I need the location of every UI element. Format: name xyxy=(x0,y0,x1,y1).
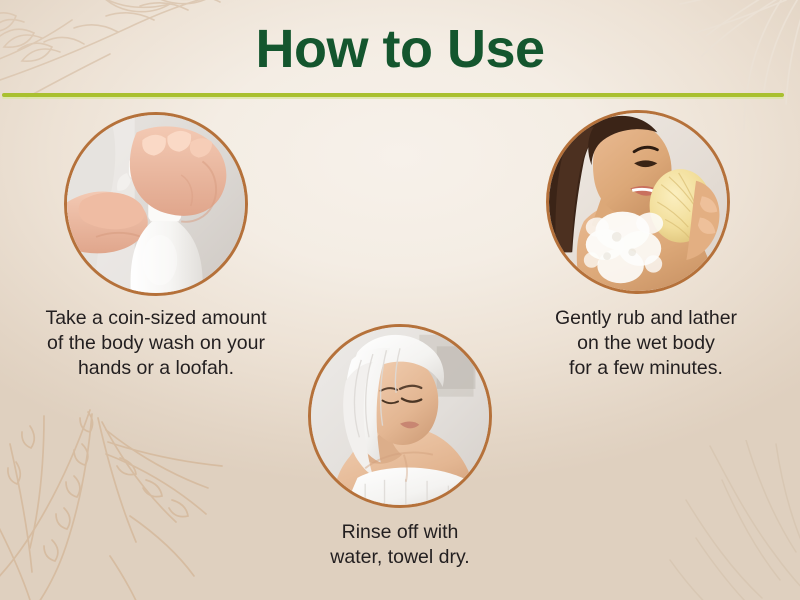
olive-divider-line xyxy=(0,92,800,100)
step-1-caption: Take a coin-sized amount of the body was… xyxy=(6,306,306,381)
step-1-caption-line-3: hands or a loofah. xyxy=(6,356,306,381)
step-3-caption-line-1: Rinse off with xyxy=(250,520,550,545)
step-2-caption-line-1: Gently rub and lather xyxy=(496,306,796,331)
step-2-caption: Gently rub and lather on the wet body fo… xyxy=(496,306,796,381)
page-title: How to Use xyxy=(0,0,800,80)
step-2-caption-line-3: for a few minutes. xyxy=(496,356,796,381)
step-1-photo-hands-pump-bottle xyxy=(64,112,248,296)
botanical-line-art-bottom-left xyxy=(0,396,250,600)
woman-towel-illustration xyxy=(311,327,489,505)
divider-bar-soft xyxy=(2,97,784,99)
step-3-photo-woman-with-towel xyxy=(308,324,492,508)
woman-lathering-illustration xyxy=(549,113,727,291)
how-to-use-slide: How to Use xyxy=(0,0,800,600)
hands-pump-bottle-illustration xyxy=(67,115,245,293)
step-1-caption-line-2: of the body wash on your xyxy=(6,331,306,356)
step-3-caption-line-2: water, towel dry. xyxy=(250,545,550,570)
step-3-caption: Rinse off with water, towel dry. xyxy=(250,520,550,570)
step-2-photo-woman-lathering xyxy=(546,110,730,294)
botanical-line-art-bottom-right xyxy=(626,440,800,600)
step-1-caption-line-1: Take a coin-sized amount xyxy=(6,306,306,331)
step-2-caption-line-2: on the wet body xyxy=(496,331,796,356)
slide-header: How to Use xyxy=(0,0,800,80)
